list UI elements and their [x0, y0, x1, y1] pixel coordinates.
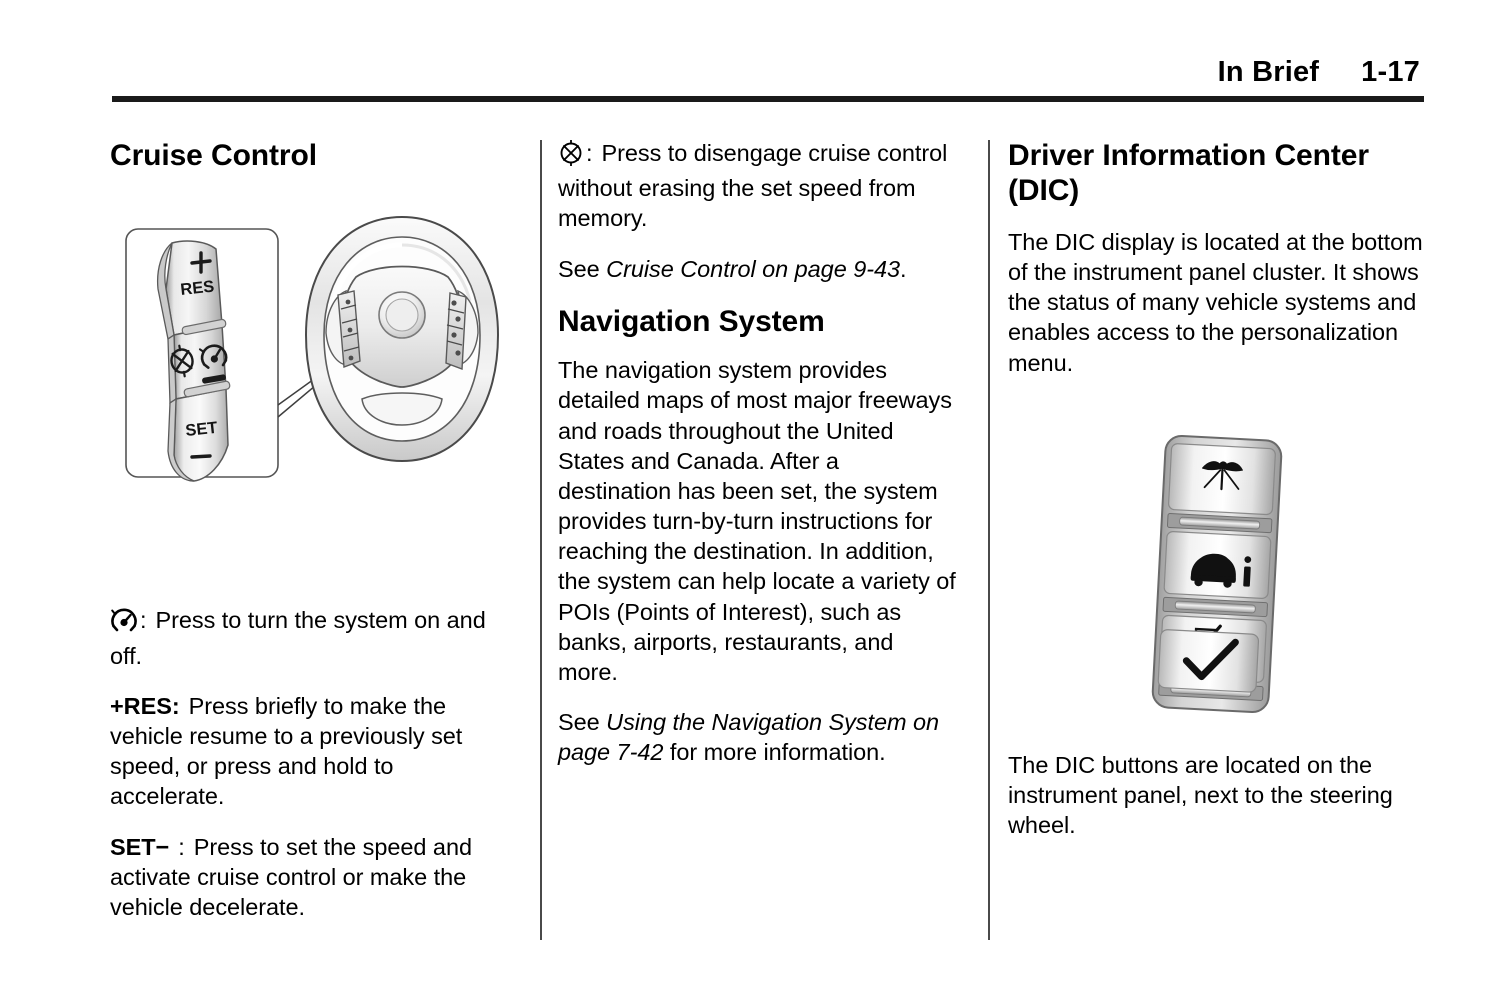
see-cruise-control-reference: See Cruise Control on page 9-43.: [558, 254, 958, 284]
column-left: Cruise Control: [110, 138, 514, 922]
cruise-onoff-item: :Press to turn the system on and off.: [110, 605, 514, 670]
see-suffix: .: [900, 256, 906, 282]
cruise-res-item: +RES:Press briefly to make the vehicle r…: [110, 691, 514, 812]
navigation-system-paragraph: The navigation system provides detailed …: [558, 355, 958, 687]
see-nav-prefix: See: [558, 709, 606, 735]
dic-intro-paragraph: The DIC display is located at the bottom…: [1008, 227, 1426, 378]
dic-buttons-location-paragraph: The DIC buttons are located on the instr…: [1008, 750, 1426, 841]
cruise-cancel-item: :Press to disengage cruise control witho…: [558, 138, 958, 234]
heading-cruise-control: Cruise Control: [110, 138, 514, 173]
see-navigation-reference: See Using the Navigation System on page …: [558, 707, 958, 767]
column-middle: :Press to disengage cruise control witho…: [558, 138, 958, 768]
wheel-switch-right: [446, 293, 466, 369]
stalk-res-label: RES: [180, 278, 216, 299]
column-divider-left: [540, 140, 542, 940]
manual-page: In Brief 1-17 Cruise Control: [0, 0, 1496, 1000]
cruise-cancel-colon: :: [586, 140, 592, 166]
cruise-control-illustration: RES: [110, 193, 510, 593]
cruise-set-term: SET−: [110, 834, 169, 860]
cruise-set-item: SET−:Press to set the speed and activate…: [110, 832, 514, 923]
cruise-onoff-colon: :: [140, 607, 146, 633]
cruise-control-xref-link[interactable]: Cruise Control on page 9-43: [606, 256, 900, 282]
dic-button-set[interactable]: [1158, 629, 1259, 692]
heading-driver-information-center: Driver Information Center (DIC): [1008, 138, 1426, 209]
heading-navigation-system: Navigation System: [558, 304, 958, 339]
stalk-set-label: SET: [185, 419, 219, 440]
stalk-set-minus-label: [192, 456, 210, 457]
page-number: 1-17: [1361, 56, 1420, 89]
wheel-hub-inner: [386, 299, 418, 331]
steering-wheel: [306, 217, 498, 461]
column-right: Driver Information Center (DIC) The DIC …: [1008, 138, 1426, 840]
column-divider-right: [988, 140, 990, 940]
cruise-res-term: +RES:: [110, 693, 180, 719]
cruise-onoff-text: Press to turn the system on and off.: [110, 607, 486, 668]
cruise-set-colon: :: [178, 834, 184, 860]
dic-button-checkmark-group: [1150, 628, 1270, 708]
figure-cruise-control: RES: [110, 193, 510, 593]
circle-x-cancel-icon: [558, 140, 584, 173]
see-prefix: See: [558, 256, 606, 282]
see-nav-suffix: for more information.: [663, 739, 885, 765]
cruise-cancel-text: Press to disengage cruise control withou…: [558, 140, 947, 231]
header-rule: [112, 96, 1424, 102]
page-header: In Brief 1-17: [112, 56, 1424, 106]
header-titles: In Brief 1-17: [112, 56, 1424, 89]
page-title: In Brief: [1218, 56, 1320, 89]
cruise-speedometer-icon: [110, 607, 138, 640]
